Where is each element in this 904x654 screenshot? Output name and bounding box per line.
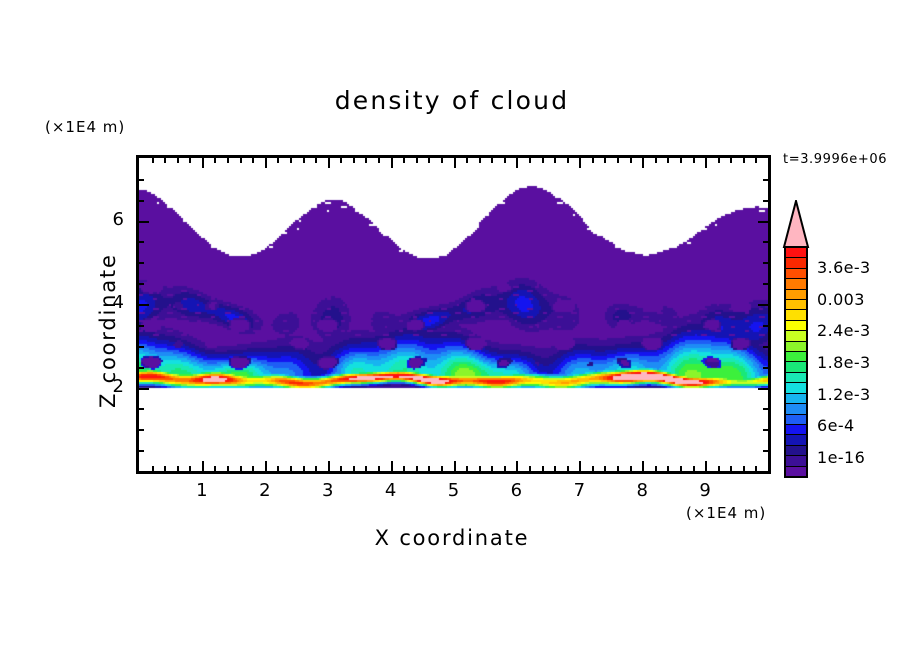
y-major-tick bbox=[139, 388, 149, 390]
x-tick-label: 7 bbox=[559, 480, 599, 501]
page-title: density of cloud bbox=[0, 86, 904, 115]
colorbar-band bbox=[786, 248, 806, 257]
x-minor-tick bbox=[164, 466, 166, 471]
y-major-tick bbox=[139, 304, 149, 306]
x-tick-label: 5 bbox=[434, 480, 474, 501]
y-minor-tick bbox=[139, 262, 144, 264]
y-tick-label: 2 bbox=[84, 376, 124, 397]
x-minor-tick bbox=[630, 466, 632, 471]
y-tick-label: 6 bbox=[84, 209, 124, 230]
y-major-tick bbox=[139, 221, 149, 223]
colorbar-band bbox=[786, 341, 806, 351]
x-major-tick bbox=[202, 461, 204, 471]
x-minor-tick-top bbox=[529, 158, 531, 163]
y-minor-tick-right bbox=[763, 367, 768, 369]
x-minor-tick-top bbox=[240, 158, 242, 163]
x-tick-label: 8 bbox=[622, 480, 662, 501]
colorbar-band bbox=[786, 424, 806, 434]
x-minor-tick bbox=[592, 466, 594, 471]
colorbar-arrow-cap-icon bbox=[781, 200, 811, 248]
x-minor-tick-top bbox=[353, 158, 355, 163]
colorbar-band bbox=[786, 393, 806, 403]
x-minor-tick bbox=[491, 466, 493, 471]
x-major-tick-top bbox=[579, 158, 581, 168]
y-minor-tick-right bbox=[763, 346, 768, 348]
colorbar-band bbox=[786, 278, 806, 288]
x-minor-tick bbox=[227, 466, 229, 471]
x-minor-tick bbox=[466, 466, 468, 471]
colorbar-band bbox=[786, 330, 806, 340]
colorbar-label: 2.4e-3 bbox=[817, 321, 871, 340]
x-minor-tick-top bbox=[504, 158, 506, 163]
x-minor-tick-top bbox=[441, 158, 443, 163]
y-minor-tick-right bbox=[763, 325, 768, 327]
colorbar-band bbox=[786, 414, 806, 424]
y-minor-tick-right bbox=[763, 241, 768, 243]
x-minor-tick-top bbox=[755, 158, 757, 163]
x-minor-tick bbox=[667, 466, 669, 471]
x-minor-tick-top bbox=[214, 158, 216, 163]
y-axis-units-label: (×1E4 m) bbox=[45, 118, 125, 136]
y-minor-tick bbox=[139, 283, 144, 285]
x-minor-tick-top bbox=[604, 158, 606, 163]
colorbar-band bbox=[786, 445, 806, 455]
x-minor-tick-top bbox=[718, 158, 720, 163]
x-minor-tick-top bbox=[592, 158, 594, 163]
x-minor-tick bbox=[743, 466, 745, 471]
x-major-tick bbox=[454, 461, 456, 471]
colorbar-band bbox=[786, 309, 806, 319]
x-minor-tick bbox=[441, 466, 443, 471]
colorbar-band bbox=[786, 351, 806, 361]
x-minor-tick-top bbox=[303, 158, 305, 163]
x-minor-tick-top bbox=[554, 158, 556, 163]
x-minor-tick bbox=[567, 466, 569, 471]
colorbar-band bbox=[786, 382, 806, 392]
colorbar-band bbox=[786, 268, 806, 278]
y-tick-label: 4 bbox=[84, 292, 124, 313]
y-minor-tick bbox=[139, 450, 144, 452]
x-axis-label: X coordinate bbox=[0, 526, 904, 550]
x-minor-tick bbox=[378, 466, 380, 471]
y-minor-tick-right bbox=[763, 450, 768, 452]
x-minor-tick bbox=[252, 466, 254, 471]
figure-canvas: density of cloud (×1E4 m) t=3.9996e+06 X… bbox=[0, 0, 904, 654]
x-minor-tick-top bbox=[378, 158, 380, 163]
x-minor-tick bbox=[428, 466, 430, 471]
x-major-tick bbox=[705, 461, 707, 471]
x-minor-tick bbox=[617, 466, 619, 471]
y-minor-tick-right bbox=[763, 262, 768, 264]
x-major-tick-top bbox=[642, 158, 644, 168]
y-minor-tick bbox=[139, 408, 144, 410]
contour-plot-canvas bbox=[139, 158, 768, 471]
x-minor-tick bbox=[604, 466, 606, 471]
colorbar-band bbox=[786, 257, 806, 267]
x-minor-tick-top bbox=[680, 158, 682, 163]
x-tick-label: 9 bbox=[685, 480, 725, 501]
x-minor-tick-top bbox=[617, 158, 619, 163]
x-minor-tick bbox=[504, 466, 506, 471]
x-tick-label: 1 bbox=[182, 480, 222, 501]
y-minor-tick-right bbox=[763, 283, 768, 285]
colorbar-band bbox=[786, 299, 806, 309]
colorbar: 3.6e-30.0032.4e-31.8e-31.2e-36e-41e-16 bbox=[781, 200, 811, 480]
x-minor-tick-top bbox=[290, 158, 292, 163]
x-minor-tick bbox=[655, 466, 657, 471]
x-minor-tick-top bbox=[189, 158, 191, 163]
x-major-tick-top bbox=[265, 158, 267, 168]
x-major-tick bbox=[516, 461, 518, 471]
colorbar-band bbox=[786, 466, 806, 476]
y-minor-tick bbox=[139, 325, 144, 327]
x-minor-tick bbox=[755, 466, 757, 471]
y-minor-tick bbox=[139, 200, 144, 202]
y-minor-tick bbox=[139, 179, 144, 181]
y-minor-tick-right bbox=[763, 179, 768, 181]
y-minor-tick-right bbox=[763, 200, 768, 202]
x-minor-tick-top bbox=[252, 158, 254, 163]
x-minor-tick bbox=[315, 466, 317, 471]
x-minor-tick bbox=[693, 466, 695, 471]
x-minor-tick-top bbox=[403, 158, 405, 163]
colorbar-band bbox=[786, 361, 806, 371]
y-minor-tick bbox=[139, 367, 144, 369]
x-minor-tick bbox=[240, 466, 242, 471]
y-minor-tick bbox=[139, 346, 144, 348]
x-minor-tick bbox=[365, 466, 367, 471]
x-minor-tick-top bbox=[567, 158, 569, 163]
x-minor-tick-top bbox=[340, 158, 342, 163]
colorbar-bands bbox=[784, 246, 808, 478]
x-minor-tick-top bbox=[177, 158, 179, 163]
x-minor-tick bbox=[214, 466, 216, 471]
x-minor-tick-top bbox=[227, 158, 229, 163]
x-minor-tick bbox=[730, 466, 732, 471]
colorbar-band bbox=[786, 403, 806, 413]
colorbar-band bbox=[786, 320, 806, 330]
x-minor-tick-top bbox=[365, 158, 367, 163]
x-minor-tick-top bbox=[655, 158, 657, 163]
x-major-tick-top bbox=[328, 158, 330, 168]
y-major-tick-right bbox=[758, 221, 768, 223]
x-minor-tick-top bbox=[315, 158, 317, 163]
y-minor-tick bbox=[139, 429, 144, 431]
x-major-tick-top bbox=[705, 158, 707, 168]
x-minor-tick bbox=[403, 466, 405, 471]
colorbar-label: 1.2e-3 bbox=[817, 385, 871, 404]
x-minor-tick-top bbox=[466, 158, 468, 163]
x-major-tick bbox=[391, 461, 393, 471]
x-minor-tick bbox=[542, 466, 544, 471]
x-minor-tick-top bbox=[479, 158, 481, 163]
x-minor-tick-top bbox=[491, 158, 493, 163]
x-minor-tick bbox=[680, 466, 682, 471]
x-minor-tick bbox=[718, 466, 720, 471]
colorbar-label: 6e-4 bbox=[817, 416, 855, 435]
x-minor-tick bbox=[554, 466, 556, 471]
x-tick-label: 2 bbox=[245, 480, 285, 501]
plot-area bbox=[136, 155, 771, 474]
x-minor-tick-top bbox=[542, 158, 544, 163]
x-minor-tick bbox=[303, 466, 305, 471]
x-minor-tick-top bbox=[277, 158, 279, 163]
x-minor-tick bbox=[340, 466, 342, 471]
x-major-tick bbox=[579, 461, 581, 471]
colorbar-band bbox=[786, 372, 806, 382]
time-annotation: t=3.9996e+06 bbox=[783, 152, 887, 167]
x-minor-tick bbox=[353, 466, 355, 471]
colorbar-band bbox=[786, 455, 806, 465]
x-minor-tick bbox=[290, 466, 292, 471]
x-minor-tick bbox=[189, 466, 191, 471]
x-minor-tick-top bbox=[693, 158, 695, 163]
x-minor-tick-top bbox=[164, 158, 166, 163]
x-axis-units-label: (×1E4 m) bbox=[686, 504, 766, 522]
x-minor-tick bbox=[177, 466, 179, 471]
y-major-tick-right bbox=[758, 388, 768, 390]
x-tick-label: 6 bbox=[496, 480, 536, 501]
colorbar-band bbox=[786, 289, 806, 299]
x-tick-label: 3 bbox=[308, 480, 348, 501]
y-minor-tick bbox=[139, 241, 144, 243]
x-major-tick-top bbox=[516, 158, 518, 168]
colorbar-label: 1.8e-3 bbox=[817, 353, 871, 372]
x-major-tick bbox=[642, 461, 644, 471]
x-minor-tick-top bbox=[743, 158, 745, 163]
x-minor-tick bbox=[529, 466, 531, 471]
colorbar-label: 0.003 bbox=[817, 290, 865, 309]
x-minor-tick-top bbox=[152, 158, 154, 163]
x-major-tick-top bbox=[454, 158, 456, 168]
x-minor-tick bbox=[479, 466, 481, 471]
x-minor-tick-top bbox=[416, 158, 418, 163]
y-minor-tick-right bbox=[763, 408, 768, 410]
x-minor-tick-top bbox=[730, 158, 732, 163]
colorbar-band bbox=[786, 434, 806, 444]
colorbar-label: 1e-16 bbox=[817, 448, 865, 467]
x-minor-tick bbox=[416, 466, 418, 471]
x-major-tick-top bbox=[202, 158, 204, 168]
colorbar-label: 3.6e-3 bbox=[817, 258, 871, 277]
x-minor-tick-top bbox=[630, 158, 632, 163]
x-tick-label: 4 bbox=[371, 480, 411, 501]
x-major-tick bbox=[328, 461, 330, 471]
y-major-tick-right bbox=[758, 304, 768, 306]
x-major-tick bbox=[265, 461, 267, 471]
x-major-tick-top bbox=[391, 158, 393, 168]
x-minor-tick-top bbox=[667, 158, 669, 163]
y-minor-tick-right bbox=[763, 429, 768, 431]
x-minor-tick-top bbox=[428, 158, 430, 163]
x-minor-tick bbox=[277, 466, 279, 471]
x-minor-tick bbox=[152, 466, 154, 471]
